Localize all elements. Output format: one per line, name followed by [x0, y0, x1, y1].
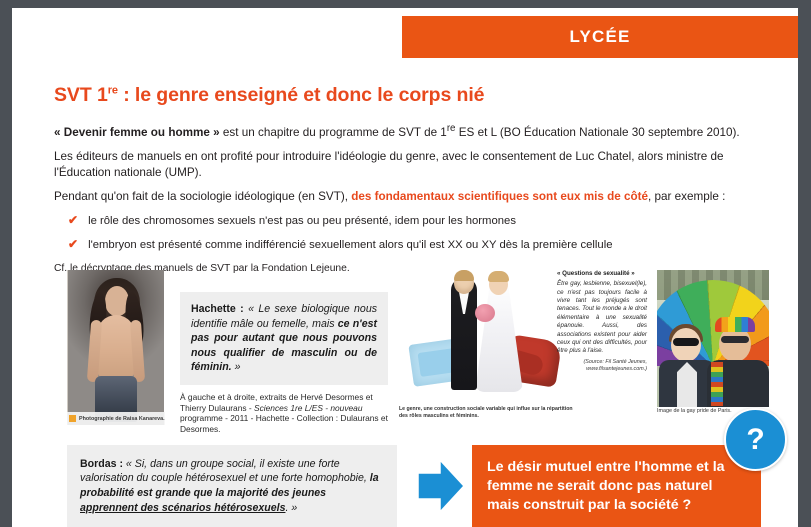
paragraph-1: « Devenir femme ou homme » est un chapit…: [54, 121, 779, 140]
lycee-banner-label: LYCÉE: [569, 27, 630, 47]
bullet-item-1-label: le rôle des chromosomes sexuels n'est pa…: [88, 214, 779, 229]
paragraph-3-tail: , par exemple :: [648, 190, 725, 203]
sexualite-body: Être gay, lesbienne, bisexuel(le), ce n'…: [557, 280, 647, 356]
paragraph-1-rest: est un chapitre du programme de SVT de 1: [220, 126, 447, 139]
photo-wedding-figurines: [399, 266, 569, 406]
bordas-source-label: Bordas :: [80, 458, 123, 470]
bullet-item-2: ✔ l'embryon est présenté comme indiffére…: [54, 238, 779, 253]
bordas-open-quote: «: [123, 458, 135, 470]
paragraph-1-bold: « Devenir femme ou homme »: [54, 126, 220, 139]
pride-person2-rainbow-scarf: [711, 362, 723, 406]
hachette-quote-text: Hachette : « Le sexe biologique nous ide…: [191, 302, 377, 375]
hachette-credit-line: À gauche et à droite, extraits de Hervé …: [180, 392, 394, 434]
hachette-close-quote: »: [232, 361, 241, 373]
photo-credit-overlay: Photographie de Raisa Kanareva.: [67, 412, 165, 425]
screenshot-viewport: LYCÉE SVT 1re : le genre enseigné et don…: [0, 0, 811, 527]
document-page: LYCÉE SVT 1re : le genre enseigné et don…: [12, 8, 798, 527]
wedding-groom-hair: [454, 270, 474, 281]
photo-gay-pride: [657, 270, 769, 407]
page-title-main: SVT 1: [54, 84, 108, 106]
page-title-rest: : le genre enseigné et donc le corps nié: [118, 84, 485, 106]
wedding-bouquet: [475, 304, 495, 322]
credit-text-2: programme - 2011 - Hachette - Collection…: [180, 413, 388, 434]
paragraph-3-highlight: des fondamentaux scientifiques sont eux …: [351, 190, 648, 203]
hachette-source-label: Hachette :: [191, 303, 244, 315]
media-strip: Photographie de Raisa Kanareva. Hachette…: [54, 266, 778, 429]
paragraph-3: Pendant qu'on fait de la sociologie idéo…: [54, 189, 779, 205]
question-mark-icon: ?: [746, 425, 764, 455]
pride-person2-rainbow-cap: [715, 317, 755, 332]
paragraph-3-lead: Pendant qu'on fait de la sociologie idéo…: [54, 190, 351, 203]
photo-androgynous-model: [67, 270, 164, 425]
wedding-bride-hair: [488, 271, 509, 282]
paragraph-2: Les éditeurs de manuels en ont profité p…: [54, 149, 779, 180]
conclusion-callout: Le désir mutuel entre l'homme et la femm…: [472, 445, 761, 527]
bordas-part-3-underline: apprennent des scénarios hétérosexuels: [80, 502, 285, 514]
sexualite-heading: « Questions de sexualité »: [557, 270, 647, 278]
hachette-quote-box: Hachette : « Le sexe biologique nous ide…: [180, 292, 388, 385]
question-mark-badge: ?: [724, 408, 787, 471]
body-text-block: « Devenir femme ou homme » est un chapit…: [54, 121, 779, 275]
bordas-quote-text: Bordas : « Si, dans un groupe social, il…: [80, 457, 384, 515]
photo-credit-label: Photographie de Raisa Kanareva.: [79, 416, 165, 422]
page-title: SVT 1re : le genre enseigné et donc le c…: [54, 84, 774, 107]
pride-person2-sunglasses: [721, 336, 749, 343]
sexualite-source: (Source: Fil Santé Jeunes, www.filsantej…: [557, 359, 647, 374]
paragraph-1-tail: ES et L (BO Éducation Nationale 30 septe…: [455, 126, 739, 139]
sexualite-text-column: « Questions de sexualité » Être gay, les…: [557, 270, 647, 374]
page-title-superscript: re: [108, 85, 118, 97]
wedding-photo-caption: Le genre, une construction sociale varia…: [399, 406, 574, 420]
conclusion-callout-text: Le désir mutuel entre l'homme et la femm…: [487, 458, 746, 515]
credit-italic: Sciences 1re L/ES - nouveau: [254, 403, 362, 413]
check-icon: ✔: [68, 214, 78, 229]
bullet-item-2-label: l'embryon est présenté comme indifférenc…: [88, 238, 779, 253]
bordas-quote-box: Bordas : « Si, dans un groupe social, il…: [67, 445, 397, 527]
bullet-item-1: ✔ le rôle des chromosomes sexuels n'est …: [54, 214, 779, 229]
lycee-banner: LYCÉE: [402, 16, 798, 58]
hachette-open-quote: «: [244, 303, 259, 315]
check-icon: ✔: [68, 238, 78, 253]
copyright-badge-icon: [69, 415, 76, 422]
bordas-close-quote: . »: [285, 502, 297, 514]
pride-person1-sunglasses: [673, 338, 699, 346]
arrow-right-icon: [412, 455, 468, 517]
